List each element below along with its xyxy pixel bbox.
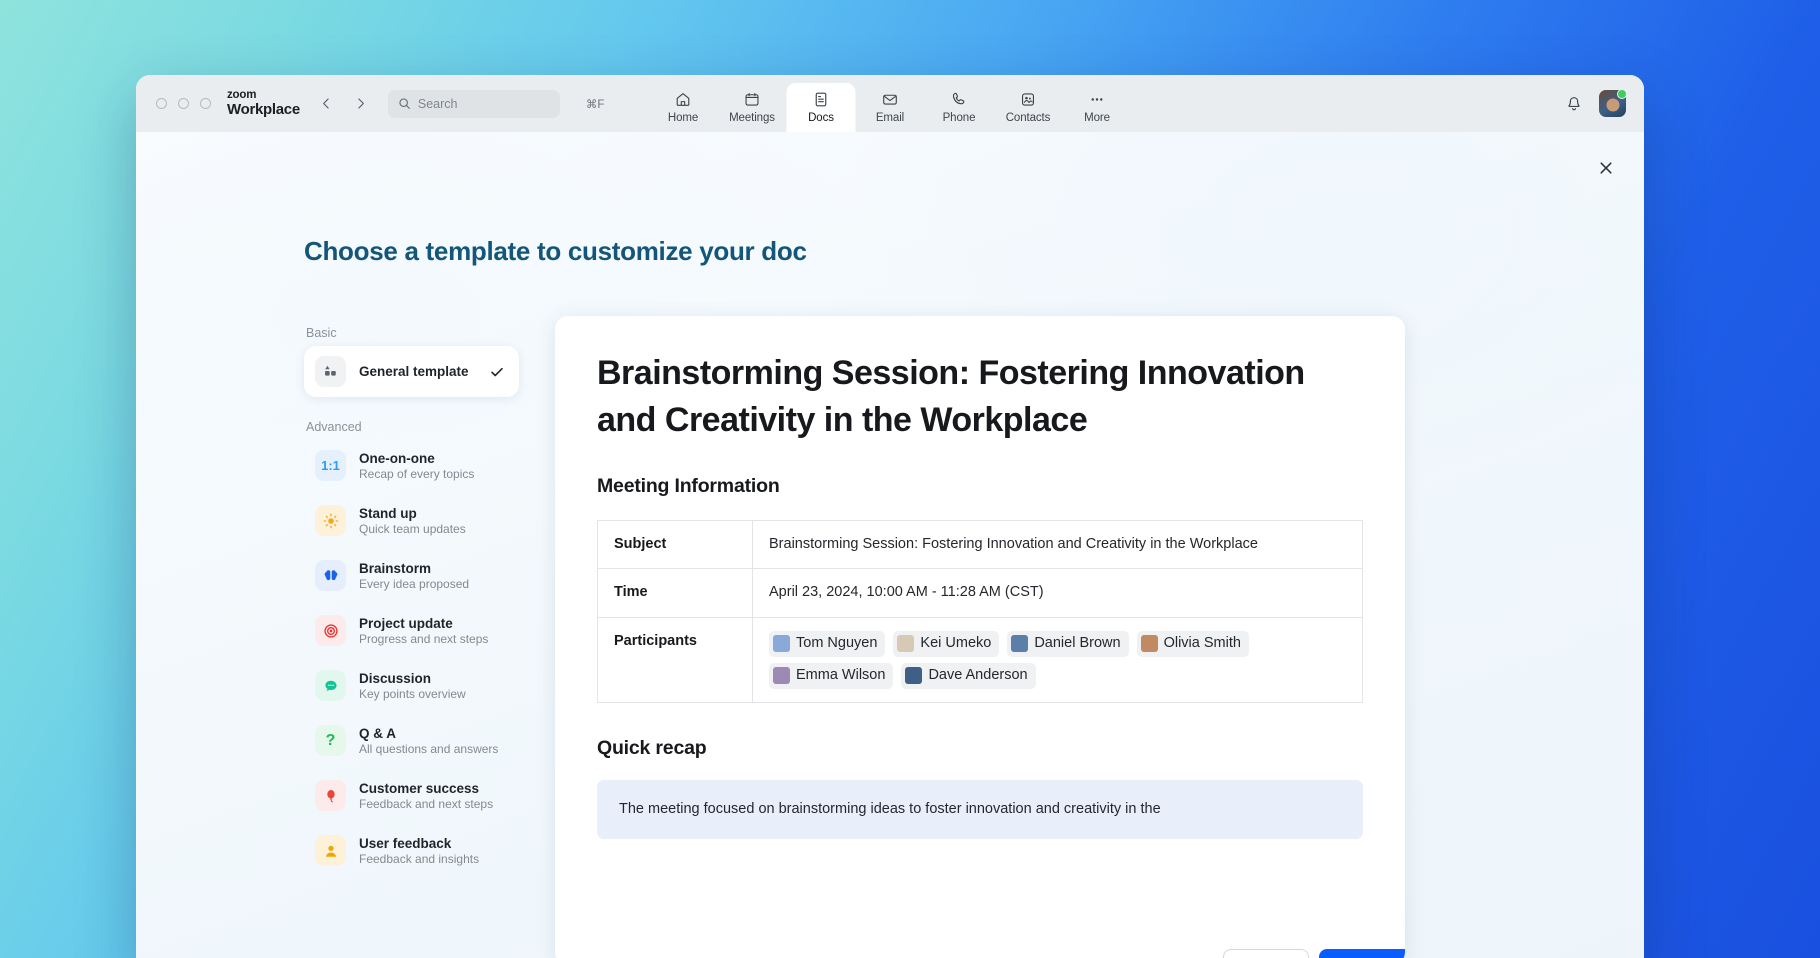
tab-more-label: More	[1084, 112, 1110, 124]
template-item-one-on-one[interactable]: 1:1 One-on-one Recap of every topics	[304, 440, 519, 491]
avatar	[905, 667, 922, 684]
template-item-text: Q & A All questions and answers	[359, 726, 498, 756]
template-item-text: Discussion Key points overview	[359, 671, 466, 701]
titlebar-right-actions	[1565, 90, 1626, 117]
template-item-name: Discussion	[359, 671, 466, 686]
template-item-subtitle: Feedback and next steps	[359, 797, 493, 811]
avatar	[773, 667, 790, 684]
phone-icon	[951, 89, 968, 109]
template-item-name: User feedback	[359, 836, 479, 851]
home-icon	[675, 89, 692, 109]
search-icon	[398, 97, 411, 110]
calendar-icon	[744, 89, 761, 109]
template-item-name: Q & A	[359, 726, 498, 741]
template-group-advanced-label: Advanced	[304, 420, 519, 434]
chevron-right-icon[interactable]	[348, 91, 374, 117]
tab-contacts-label: Contacts	[1006, 112, 1051, 124]
template-item-name: One-on-one	[359, 451, 474, 466]
participant-chip[interactable]: Dave Anderson	[901, 663, 1035, 689]
template-item-user-feedback[interactable]: User feedback Feedback and insights	[304, 825, 519, 876]
avatar	[897, 635, 914, 652]
participant-name: Olivia Smith	[1164, 633, 1241, 655]
template-sidebar: Basic General template Advanced	[304, 312, 519, 958]
document-icon	[813, 89, 830, 109]
avatar-face	[1606, 98, 1619, 111]
cancel-button[interactable]: Cancel	[1223, 949, 1309, 958]
tab-email-label: Email	[876, 112, 904, 124]
section-heading-meeting-information: Meeting Information	[597, 475, 1363, 498]
chat-bubble-icon	[315, 670, 346, 701]
tab-phone[interactable]: Phone	[925, 83, 994, 132]
template-item-general-template[interactable]: General template	[304, 346, 519, 397]
target-icon	[315, 615, 346, 646]
use-template-button[interactable]: Use template	[1319, 949, 1405, 958]
template-item-stand-up[interactable]: Stand up Quick team updates	[304, 495, 519, 546]
participant-chip[interactable]: Tom Nguyen	[769, 631, 885, 657]
tab-meetings[interactable]: Meetings	[718, 83, 787, 132]
history-navigation	[314, 91, 374, 117]
template-item-name: General template	[359, 364, 469, 379]
template-item-name: Customer success	[359, 781, 493, 796]
contacts-icon	[1020, 89, 1037, 109]
tab-meetings-label: Meetings	[729, 112, 775, 124]
shapes-icon	[315, 356, 346, 387]
zoom-workplace-logo: zoom Workplace	[227, 89, 300, 118]
avatar	[1141, 635, 1158, 652]
maximize-window-button[interactable]	[200, 98, 211, 109]
question-mark-icon: ?	[315, 725, 346, 756]
template-item-subtitle: Recap of every topics	[359, 467, 474, 481]
desktop-background: zoom Workplace ⌘F	[0, 0, 1820, 958]
search-input[interactable]	[418, 97, 579, 111]
tab-phone-label: Phone	[943, 112, 976, 124]
template-item-text: Stand up Quick team updates	[359, 506, 466, 536]
participant-chip-list: Tom Nguyen Kei Umeko Danie	[769, 631, 1346, 689]
template-item-customer-success[interactable]: Customer success Feedback and next steps	[304, 770, 519, 821]
one-on-one-icon: 1:1	[315, 450, 346, 481]
participant-chip[interactable]: Daniel Brown	[1007, 631, 1128, 657]
minimize-window-button[interactable]	[178, 98, 189, 109]
template-item-subtitle: Quick team updates	[359, 522, 466, 536]
table-cell-value: Brainstorming Session: Fostering Innovat…	[753, 520, 1363, 569]
table-row: Subject Brainstorming Session: Fostering…	[598, 520, 1363, 569]
template-item-subtitle: Progress and next steps	[359, 632, 488, 646]
avatar	[1011, 635, 1028, 652]
search-shortcut-hint: ⌘F	[586, 97, 605, 111]
template-picker: Basic General template Advanced	[136, 312, 1644, 958]
meeting-information-table: Subject Brainstorming Session: Fostering…	[597, 520, 1363, 703]
table-cell-value: April 23, 2024, 10:00 AM - 11:28 AM (CST…	[753, 569, 1363, 618]
brand-zoom-text: zoom	[227, 89, 300, 101]
table-row: Time April 23, 2024, 10:00 AM - 11:28 AM…	[598, 569, 1363, 618]
table-cell-key: Subject	[598, 520, 753, 569]
search-bar[interactable]: ⌘F	[388, 90, 560, 118]
quick-recap-callout: The meeting focused on brainstorming ide…	[597, 780, 1363, 839]
template-item-text: Customer success Feedback and next steps	[359, 781, 493, 811]
participant-name: Kei Umeko	[920, 633, 991, 655]
tab-docs[interactable]: Docs	[787, 83, 856, 132]
template-item-subtitle: Every idea proposed	[359, 577, 469, 591]
template-item-name: Project update	[359, 616, 488, 631]
template-chooser-overlay: Choose a template to customize your doc …	[136, 132, 1644, 958]
sun-icon	[315, 505, 346, 536]
template-item-brainstorm[interactable]: Brainstorm Every idea proposed	[304, 550, 519, 601]
brand-workplace-text: Workplace	[227, 102, 300, 118]
template-item-subtitle: Key points overview	[359, 687, 466, 701]
tab-contacts[interactable]: Contacts	[994, 83, 1063, 132]
participant-name: Daniel Brown	[1034, 633, 1120, 655]
tab-email[interactable]: Email	[856, 83, 925, 132]
template-item-name: Brainstorm	[359, 561, 469, 576]
close-icon[interactable]	[1592, 154, 1620, 182]
participant-chip[interactable]: Emma Wilson	[769, 663, 893, 689]
tab-home-label: Home	[668, 112, 698, 124]
zoom-workplace-window: zoom Workplace ⌘F	[136, 75, 1644, 958]
document-preview-card: Brainstorming Session: Fostering Innovat…	[555, 316, 1405, 958]
main-navigation-tabs: Home Meetings Docs	[649, 75, 1132, 132]
avatar	[773, 635, 790, 652]
template-group-basic-label: Basic	[304, 326, 519, 340]
template-item-text: General template	[359, 364, 469, 379]
template-item-project-update[interactable]: Project update Progress and next steps	[304, 605, 519, 656]
document-action-bar: Cancel Use template	[1223, 949, 1405, 958]
tab-more[interactable]: More	[1063, 83, 1132, 132]
template-item-text: Brainstorm Every idea proposed	[359, 561, 469, 591]
check-icon	[489, 364, 505, 380]
bell-icon[interactable]	[1565, 95, 1583, 113]
template-item-subtitle: Feedback and insights	[359, 852, 479, 866]
template-item-subtitle: All questions and answers	[359, 742, 498, 756]
page-title: Choose a template to customize your doc	[304, 236, 807, 267]
template-item-text: User feedback Feedback and insights	[359, 836, 479, 866]
tab-home[interactable]: Home	[649, 83, 718, 132]
participant-name: Dave Anderson	[928, 665, 1027, 687]
participant-name: Tom Nguyen	[796, 633, 877, 655]
brain-icon	[315, 560, 346, 591]
template-item-text: Project update Progress and next steps	[359, 616, 488, 646]
table-cell-key: Time	[598, 569, 753, 618]
table-cell-participants: Tom Nguyen Kei Umeko Danie	[753, 618, 1363, 703]
participant-chip[interactable]: Kei Umeko	[893, 631, 999, 657]
customer-success-icon	[315, 780, 346, 811]
tab-docs-label: Docs	[808, 112, 834, 124]
template-item-name: Stand up	[359, 506, 466, 521]
table-cell-key: Participants	[598, 618, 753, 703]
chevron-left-icon[interactable]	[314, 91, 340, 117]
template-item-discussion[interactable]: Discussion Key points overview	[304, 660, 519, 711]
section-heading-quick-recap: Quick recap	[597, 737, 1363, 760]
table-row: Participants Tom Nguyen	[598, 618, 1363, 703]
avatar[interactable]	[1599, 90, 1626, 117]
template-item-q-and-a[interactable]: ? Q & A All questions and answers	[304, 715, 519, 766]
ellipsis-icon	[1089, 89, 1106, 109]
user-feedback-icon	[315, 835, 346, 866]
close-window-button[interactable]	[156, 98, 167, 109]
window-controls[interactable]	[156, 98, 211, 109]
participant-chip[interactable]: Olivia Smith	[1137, 631, 1249, 657]
template-item-text: One-on-one Recap of every topics	[359, 451, 474, 481]
participant-name: Emma Wilson	[796, 665, 885, 687]
document-title: Brainstorming Session: Fostering Innovat…	[597, 350, 1363, 445]
envelope-icon	[882, 89, 899, 109]
window-titlebar: zoom Workplace ⌘F	[136, 75, 1644, 132]
